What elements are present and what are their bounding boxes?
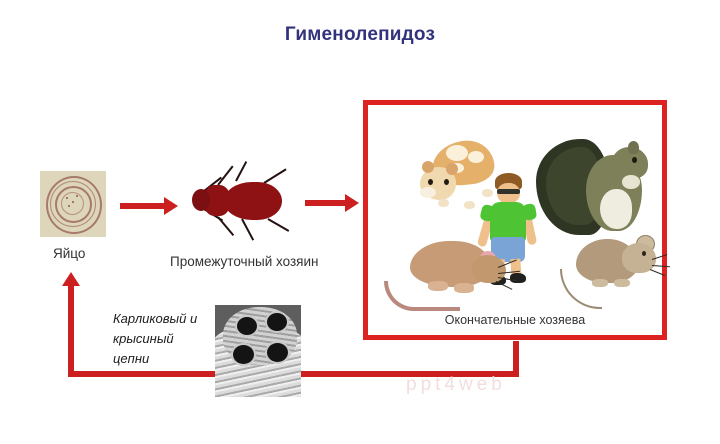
slide-canvas: Гименолепидоз Яйцо Промежуточный хозяин bbox=[0, 0, 720, 444]
mouse-foot bbox=[592, 279, 608, 287]
hamster-ear bbox=[446, 163, 458, 175]
intermediate-host-label: Промежуточный хозяин bbox=[170, 254, 318, 269]
mouse-image bbox=[560, 235, 670, 315]
arrow-egg-to-beetle-shaft bbox=[120, 203, 166, 209]
tapeworm-label-line3: цепни bbox=[113, 349, 197, 369]
mouse-whisker bbox=[650, 269, 665, 276]
tapeworm-sucker bbox=[233, 345, 254, 364]
hamster-eye bbox=[444, 179, 449, 185]
beetle-leg bbox=[241, 219, 254, 241]
watermark: ppt4web bbox=[406, 374, 506, 396]
definitive-hosts-label: Окончательные хозяева bbox=[368, 313, 662, 327]
beetle-leg bbox=[217, 165, 233, 185]
page-title: Гименолепидоз bbox=[0, 24, 720, 46]
squirrel-belly bbox=[600, 189, 632, 229]
tapeworm-image bbox=[215, 305, 301, 397]
egg-label: Яйцо bbox=[53, 246, 85, 261]
boy-glasses bbox=[497, 189, 520, 194]
hamster-patch bbox=[468, 151, 484, 163]
mouse-eye bbox=[642, 251, 646, 256]
squirrel-ear bbox=[628, 141, 639, 154]
tapeworm-sucker bbox=[237, 317, 257, 335]
egg-speck bbox=[72, 201, 74, 203]
squirrel-paw bbox=[622, 175, 640, 189]
beetle-leg bbox=[268, 218, 290, 232]
tapeworm-sucker bbox=[267, 313, 287, 331]
beetle-abdomen bbox=[224, 182, 282, 220]
return-path-arrow-head bbox=[62, 272, 80, 286]
mouse-whisker bbox=[652, 265, 670, 267]
squirrel-eye bbox=[632, 157, 637, 163]
hamster-snout bbox=[420, 187, 436, 198]
hamster-patch bbox=[446, 145, 468, 161]
egg-speck bbox=[66, 197, 68, 199]
beetle-leg bbox=[217, 216, 234, 236]
beetle-image bbox=[178, 168, 298, 236]
squirrel-image bbox=[536, 133, 656, 243]
rat-foot bbox=[454, 283, 474, 293]
hamster-foot bbox=[438, 199, 449, 207]
rat-head bbox=[472, 255, 506, 283]
egg-speck bbox=[68, 205, 70, 207]
tapeworm-sucker bbox=[267, 343, 288, 362]
beetle-leg bbox=[235, 161, 247, 181]
egg-ring-inner bbox=[61, 192, 84, 215]
return-path-left-riser bbox=[68, 285, 74, 375]
tapeworm-label-line2: крысиный bbox=[113, 329, 197, 349]
tapeworm-label-line1: Карликовый и bbox=[113, 309, 197, 329]
rat-foot bbox=[428, 281, 448, 291]
tapeworm-scolex bbox=[223, 307, 297, 365]
egg-speck bbox=[76, 195, 78, 197]
mouse-foot bbox=[614, 279, 630, 287]
arrow-beetle-to-hosts-shaft bbox=[305, 200, 347, 206]
hamster-foot bbox=[464, 201, 475, 209]
rat-image bbox=[384, 231, 514, 317]
rat-whisker bbox=[496, 281, 513, 290]
hamster-eye bbox=[428, 179, 433, 185]
tapeworm-label: Карликовый и крысиный цепни bbox=[113, 309, 197, 369]
beetle-leg bbox=[263, 168, 286, 183]
egg-image bbox=[40, 171, 106, 237]
arrow-beetle-to-hosts-head bbox=[345, 194, 359, 212]
definitive-hosts-box: Окончательные хозяева bbox=[363, 100, 667, 340]
hamster-ear bbox=[422, 161, 434, 173]
beetle-head bbox=[192, 189, 210, 211]
arrow-egg-to-beetle-head bbox=[164, 197, 178, 215]
